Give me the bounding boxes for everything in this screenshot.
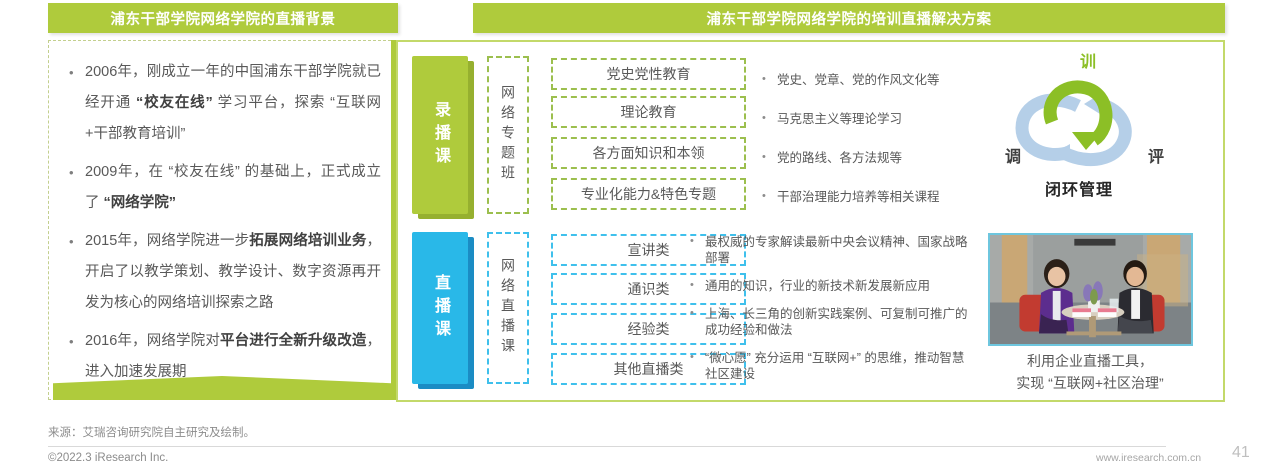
background-bullet-0: 2006年，刚成立一年的中国浦东干部学院就已经开通 “校友在线” 学习平台，探索… <box>67 57 381 150</box>
recorded-course-tab[interactable]: 录播课 <box>412 56 468 214</box>
recorded-item-2[interactable]: 各方面知识和本领 <box>551 137 746 169</box>
live-course-tab[interactable]: 直播课 <box>412 232 468 384</box>
right-section-header: 浦东干部学院网络学院的培训直播解决方案 <box>473 3 1225 33</box>
page-number: 41 <box>1232 444 1250 462</box>
closed-loop-diagram: 训 调 评 闭环管理 <box>1000 48 1180 213</box>
live-bullet-1: 通用的知识，行业的新技术新发展新应用 <box>690 278 970 294</box>
background-bullet-list: 2006年，刚成立一年的中国浦东干部学院就已经开通 “校友在线” 学习平台，探索… <box>49 43 397 395</box>
recorded-item-0[interactable]: 党史党性教育 <box>551 58 746 90</box>
recorded-bullet-1: 马克思主义等理论学习 <box>762 99 992 138</box>
cycle-label-top: 训 <box>1080 48 1096 72</box>
photo-caption: 利用企业直播工具， 实现 “互联网+社区治理” <box>960 350 1220 394</box>
slide-page: 浦东干部学院网络学院的直播背景 浦东干部学院网络学院的培训直播解决方案 2006… <box>0 0 1267 476</box>
left-section-header: 浦东干部学院网络学院的直播背景 <box>48 3 398 33</box>
background-panel: 2006年，刚成立一年的中国浦东干部学院就已经开通 “校友在线” 学习平台，探索… <box>48 40 396 400</box>
copyright-text: ©2022.3 iResearch Inc. <box>48 452 168 464</box>
background-bullet-1: 2009年，在 “校友在线” 的基础上，正式成立了 “网络学院” <box>67 157 381 219</box>
live-bullet-3: “微心愿” 充分运用 “互联网+” 的思维，推动智慧社区建设 <box>690 350 970 382</box>
photo-caption-line2: 实现 “互联网+社区治理” <box>960 372 1220 394</box>
recorded-course-vertical-label: 网络专题班 <box>487 56 529 214</box>
recorded-bullet-2: 党的路线、各方法规等 <box>762 138 992 177</box>
live-course-vertical-label: 网络直播课 <box>487 232 529 384</box>
cycle-label-left: 调 <box>1005 143 1021 167</box>
photo-illustration <box>990 235 1191 344</box>
live-broadcast-photo <box>988 233 1193 346</box>
recorded-item-1[interactable]: 理论教育 <box>551 96 746 128</box>
cycle-caption: 闭环管理 <box>1045 176 1113 200</box>
recorded-item-3[interactable]: 专业化能力&特色专题 <box>551 178 746 210</box>
live-course-bullets: 最权威的专家解读最新中央会议精神、国家战略部署通用的知识，行业的新技术新发展新应… <box>690 234 970 394</box>
website-url: www.iresearch.com.cn <box>1096 452 1201 464</box>
recorded-bullet-3: 干部治理能力培养等相关课程 <box>762 177 992 216</box>
source-note: 来源：艾瑞咨询研究院自主研究及绘制。 <box>48 424 255 440</box>
live-bullet-0: 最权威的专家解读最新中央会议精神、国家战略部署 <box>690 234 970 266</box>
recorded-bullet-0: 党史、党章、党的作风文化等 <box>762 60 992 99</box>
recorded-course-bullets: 党史、党章、党的作风文化等马克思主义等理论学习党的路线、各方法规等干部治理能力培… <box>762 60 992 216</box>
footer-divider <box>48 446 1166 447</box>
cycle-label-right: 评 <box>1148 143 1164 167</box>
photo-caption-line1: 利用企业直播工具， <box>960 350 1220 372</box>
live-bullet-2: 上海、长三角的创新实践案例、可复制可推广的成功经验和做法 <box>690 306 970 338</box>
background-bullet-2: 2015年，网络学院进一步拓展网络培训业务，开启了以教学策划、教学设计、数字资源… <box>67 226 381 319</box>
